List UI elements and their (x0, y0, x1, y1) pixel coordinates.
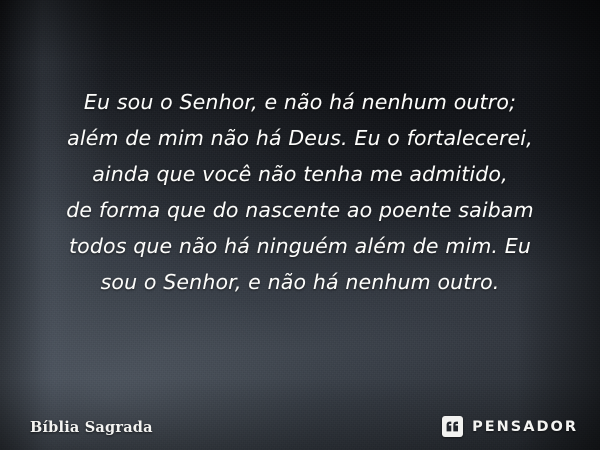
quote-line: Eu sou o Senhor, e não há nenhum outro; (28, 84, 572, 120)
brand-name: PENSADOR (472, 419, 578, 435)
pensador-logo[interactable]: PENSADOR (442, 416, 578, 437)
quote-line: sou o Senhor, e não há nenhum outro. (28, 264, 572, 300)
quote-card: Eu sou o Senhor, e não há nenhum outro; … (0, 0, 600, 450)
quote-line: todos que não há ninguém além de mim. Eu (28, 228, 572, 264)
quote-line: de forma que do nascente ao poente saiba… (28, 192, 572, 228)
quote-marks-icon (442, 416, 463, 437)
card-content: Eu sou o Senhor, e não há nenhum outro; … (0, 0, 600, 450)
card-footer: Bíblia Sagrada PENSADOR (0, 394, 600, 450)
author-name: Bíblia Sagrada (30, 419, 153, 436)
quote-line: além de mim não há Deus. Eu o fortalecer… (28, 120, 572, 156)
quote-line: ainda que você não tenha me admitido, (28, 156, 572, 192)
quote-text-block: Eu sou o Senhor, e não há nenhum outro; … (28, 84, 572, 300)
